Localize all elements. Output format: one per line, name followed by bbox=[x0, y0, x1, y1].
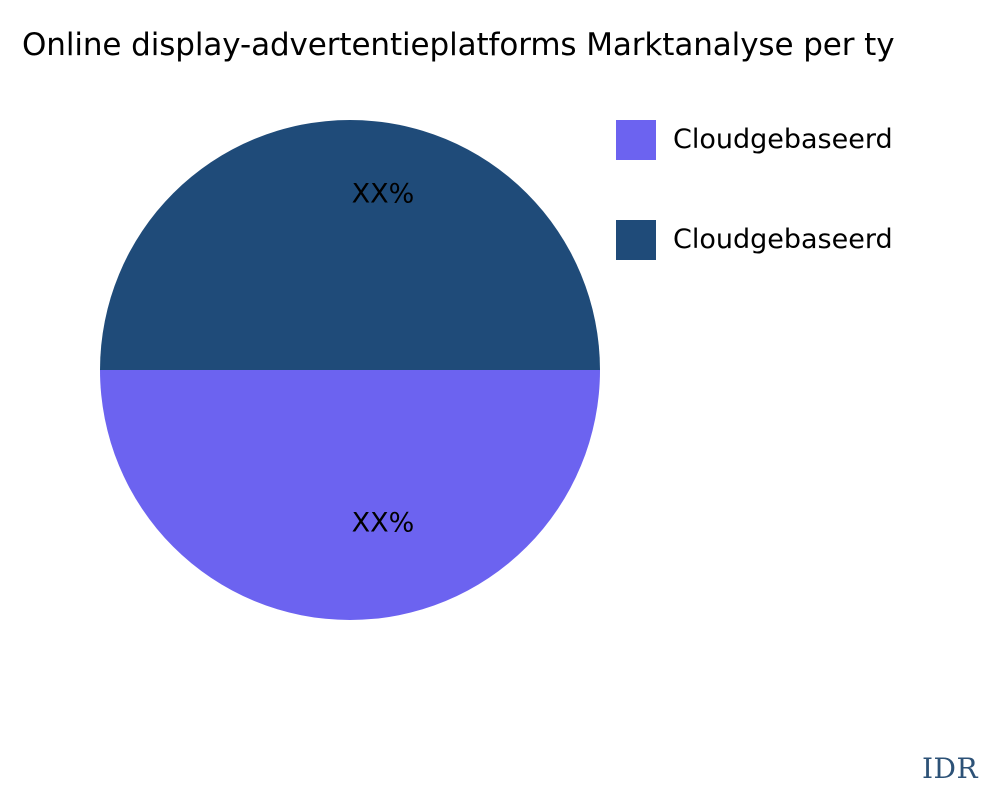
legend-swatch-icon-1 bbox=[616, 220, 656, 260]
legend-item-1[interactable]: Cloudgebaseerd bbox=[616, 220, 976, 320]
legend-swatch-icon-0 bbox=[616, 120, 656, 160]
pie-svg bbox=[100, 120, 600, 620]
page-title: Online display-advertentieplatforms Mark… bbox=[22, 25, 894, 65]
chart-legend: Cloudgebaseerd Cloudgebaseerd bbox=[616, 120, 976, 320]
pie-slice-label-purple: XX% bbox=[352, 179, 415, 210]
pie-slice-label-navy: XX% bbox=[352, 508, 415, 539]
chart-figure: Online display-advertentieplatforms Mark… bbox=[0, 0, 1000, 800]
legend-item-0[interactable]: Cloudgebaseerd bbox=[616, 120, 976, 220]
pie-slice-cloudgebaseerd-navy[interactable] bbox=[100, 120, 600, 370]
watermark-text: IDR bbox=[922, 752, 978, 785]
legend-label-1: Cloudgebaseerd bbox=[673, 220, 893, 260]
pie-slice-cloudgebaseerd-purple[interactable] bbox=[100, 370, 600, 620]
legend-label-0: Cloudgebaseerd bbox=[673, 120, 893, 160]
pie-chart: XX% XX% bbox=[100, 120, 600, 620]
